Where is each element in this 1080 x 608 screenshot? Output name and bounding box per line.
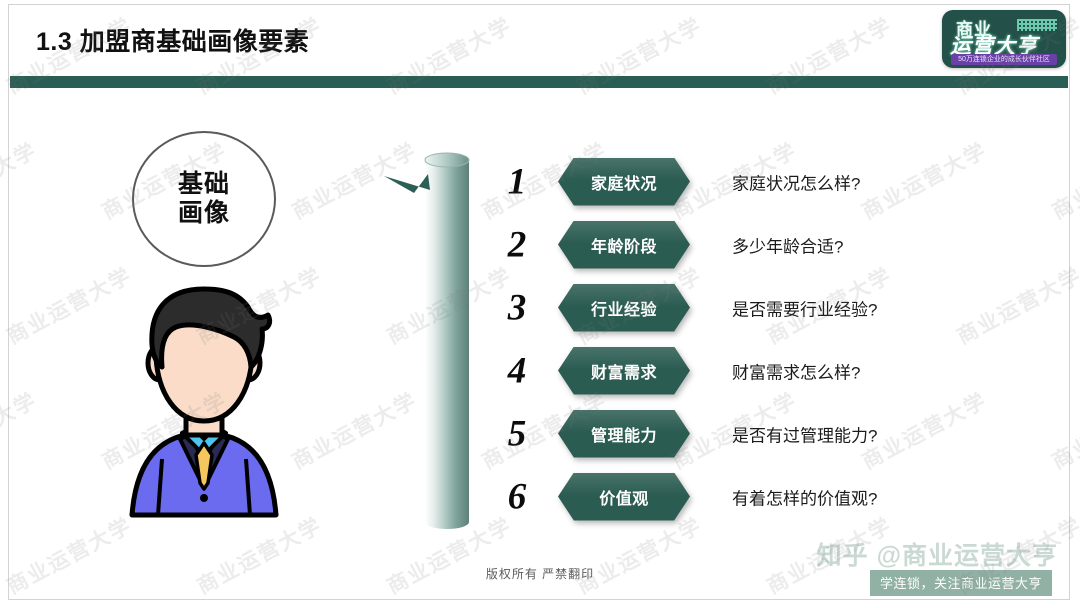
row-question: 财富需求怎么样? <box>732 358 860 383</box>
row-badge-label: 财富需求 <box>591 359 657 383</box>
zhihu-promo-banner: 学连锁，关注商业运营大亨 <box>870 570 1052 596</box>
pointer-flag-icon <box>384 174 432 198</box>
brand-logo-subtitle: 50万连锁企业的成长伙伴社区 <box>951 54 1057 65</box>
row-badge[interactable]: 财富需求 <box>558 347 690 395</box>
basis-circle-line1: 基础 <box>178 170 230 200</box>
header-divider <box>10 76 1068 88</box>
cylinder-pillar <box>424 152 470 530</box>
list-item[interactable]: 3 行业经验 是否需要行业经验? <box>496 276 966 339</box>
row-badge-label: 家庭状况 <box>591 170 657 194</box>
row-question: 有着怎样的价值观? <box>732 484 877 509</box>
brand-logo: 商业 运营大亨 50万连锁企业的成长伙伴社区 <box>942 10 1066 68</box>
factor-list: 1 家庭状况 家庭状况怎么样? 2 年龄阶段 多少年龄合适? 3 行业经验 是否… <box>496 150 966 528</box>
row-badge-label: 年龄阶段 <box>591 233 657 257</box>
row-number: 5 <box>496 415 538 452</box>
row-number: 2 <box>496 226 538 263</box>
row-question: 是否需要行业经验? <box>732 295 877 320</box>
row-badge[interactable]: 行业经验 <box>558 284 690 332</box>
row-badge-label: 行业经验 <box>591 296 657 320</box>
row-badge[interactable]: 年龄阶段 <box>558 221 690 269</box>
zhihu-watermark: 知乎 @商业运营大亨 <box>817 536 1058 572</box>
page-title: 1.3 加盟商基础画像要素 <box>36 22 309 58</box>
row-number: 1 <box>496 163 538 200</box>
list-item[interactable]: 4 财富需求 财富需求怎么样? <box>496 339 966 402</box>
row-question: 是否有过管理能力? <box>732 421 877 446</box>
row-question: 多少年龄合适? <box>732 232 843 257</box>
list-item[interactable]: 1 家庭状况 家庭状况怎么样? <box>496 150 966 213</box>
row-number: 4 <box>496 352 538 389</box>
row-number: 3 <box>496 289 538 326</box>
person-avatar-icon <box>118 283 290 523</box>
list-item[interactable]: 2 年龄阶段 多少年龄合适? <box>496 213 966 276</box>
list-item[interactable]: 6 价值观 有着怎样的价值观? <box>496 465 966 528</box>
row-badge[interactable]: 价值观 <box>558 473 690 521</box>
row-badge[interactable]: 管理能力 <box>558 410 690 458</box>
slide-canvas: 1.3 加盟商基础画像要素 商业 运营大亨 50万连锁企业的成长伙伴社区 基础 … <box>0 0 1080 608</box>
list-item[interactable]: 5 管理能力 是否有过管理能力? <box>496 402 966 465</box>
row-question: 家庭状况怎么样? <box>732 169 860 194</box>
basis-circle: 基础 画像 <box>132 131 276 267</box>
row-number: 6 <box>496 478 538 515</box>
row-badge-label: 管理能力 <box>591 422 657 446</box>
basis-circle-line2: 画像 <box>178 199 230 229</box>
row-badge[interactable]: 家庭状况 <box>558 158 690 206</box>
row-badge-label: 价值观 <box>599 485 649 509</box>
